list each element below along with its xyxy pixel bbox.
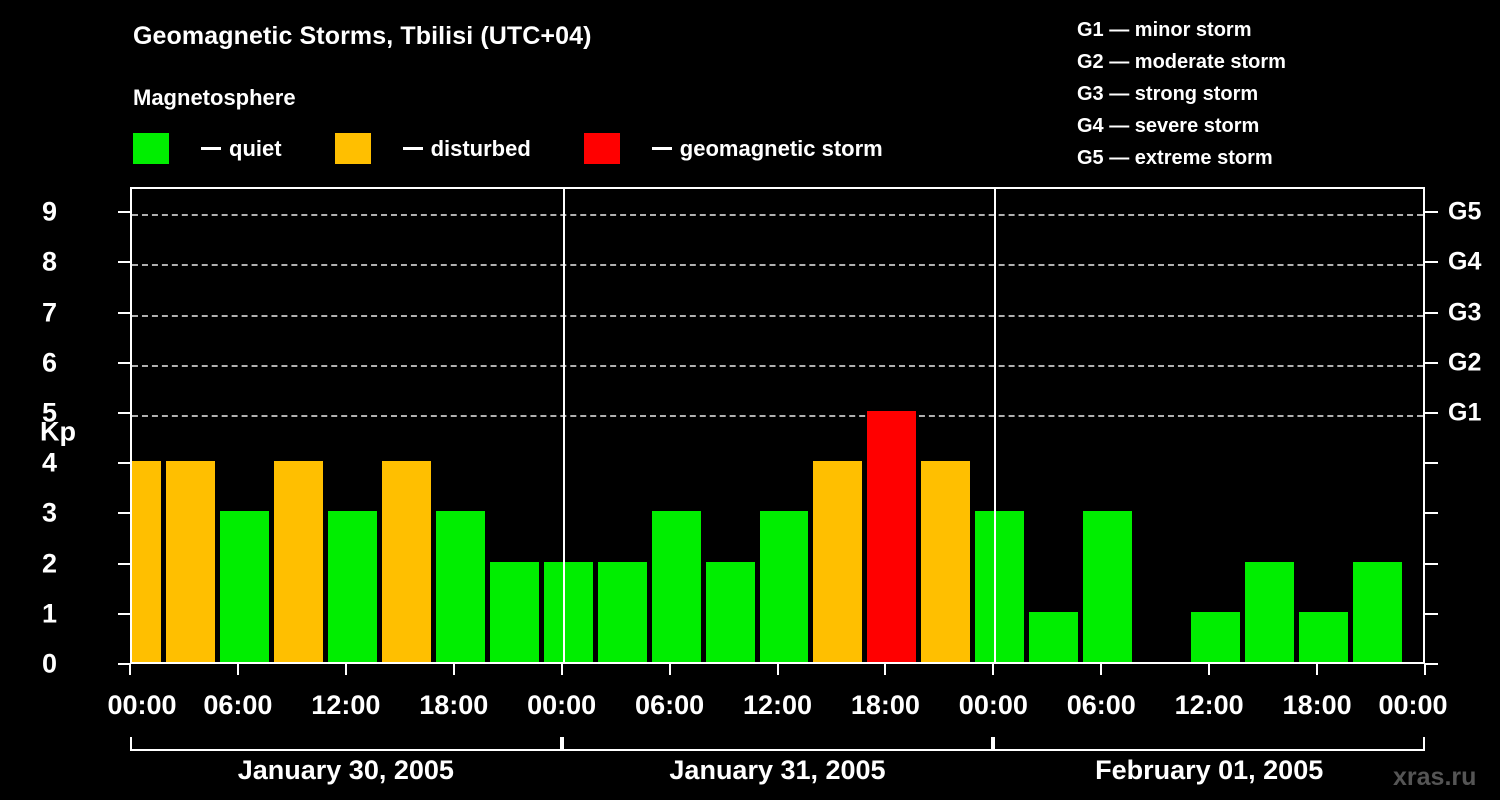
y-tick-mark-7 [118, 312, 130, 314]
x-tick-mark-0 [129, 664, 131, 675]
page-title: Geomagnetic Storms, Tbilisi (UTC+04) [133, 22, 592, 51]
x-tick-mark-3 [453, 664, 455, 675]
right-tick-mark-5 [1425, 412, 1438, 414]
y-tick-label-9: 9 [27, 197, 57, 228]
x-tick-mark-8 [992, 664, 994, 675]
day-separator-1 [563, 189, 565, 662]
x-tick-label-11: 18:00 [1283, 690, 1352, 721]
day-label-3: February 01, 2005 [1095, 755, 1323, 786]
day-label-1: January 30, 2005 [238, 755, 454, 786]
g-tick-label-G5: G5 [1448, 198, 1481, 227]
y-tick-label-2: 2 [27, 548, 57, 579]
x-tick-label-3: 18:00 [419, 690, 488, 721]
y-tick-label-6: 6 [27, 347, 57, 378]
x-tick-mark-6 [777, 664, 779, 675]
x-tick-mark-10 [1208, 664, 1210, 675]
y-tick-label-7: 7 [27, 297, 57, 328]
legend-dash-icon [652, 147, 672, 150]
x-tick-label-8: 00:00 [959, 690, 1028, 721]
x-tick-mark-12 [1424, 664, 1426, 675]
y-tick-label-1: 1 [27, 598, 57, 629]
right-tick-mark-7 [1425, 312, 1438, 314]
chart-subtitle: Magnetosphere [133, 85, 296, 111]
y-tick-label-0: 0 [27, 649, 57, 680]
legend-label: disturbed [431, 136, 531, 162]
orange-square-icon [335, 133, 371, 164]
day-bracket-2 [562, 737, 994, 751]
g-scale-legend: G1 — minor stormG2 — moderate stormG3 — … [1077, 14, 1286, 174]
legend-label: geomagnetic storm [680, 136, 883, 162]
y-tick-label-3: 3 [27, 498, 57, 529]
g-legend-row-5: G5 — extreme storm [1077, 142, 1286, 174]
x-tick-label-5: 06:00 [635, 690, 704, 721]
x-tick-label-4: 00:00 [527, 690, 596, 721]
y-tick-mark-3 [118, 512, 130, 514]
legend-dash-icon [201, 147, 221, 150]
g-tick-label-G4: G4 [1448, 248, 1481, 277]
g-legend-row-2: G2 — moderate storm [1077, 46, 1286, 78]
right-tick-mark-0 [1425, 663, 1438, 665]
x-tick-mark-2 [345, 664, 347, 675]
x-tick-label-7: 18:00 [851, 690, 920, 721]
x-tick-label-12: 00:00 [1378, 690, 1447, 721]
right-tick-mark-9 [1425, 211, 1438, 213]
day-bracket-3 [993, 737, 1425, 751]
y-tick-mark-8 [118, 261, 130, 263]
g-legend-row-4: G4 — severe storm [1077, 110, 1286, 142]
legend-item-quiet: quiet [133, 133, 282, 164]
right-tick-mark-4 [1425, 462, 1438, 464]
x-tick-label-6: 12:00 [743, 690, 812, 721]
y-tick-label-5: 5 [27, 397, 57, 428]
x-tick-label-1: 06:00 [203, 690, 272, 721]
day-separator-2 [994, 189, 996, 662]
right-tick-mark-1 [1425, 613, 1438, 615]
g-legend-row-1: G1 — minor storm [1077, 14, 1286, 46]
y-tick-mark-4 [118, 462, 130, 464]
day-bracket-1 [130, 737, 562, 751]
y-tick-mark-6 [118, 362, 130, 364]
x-tick-mark-1 [237, 664, 239, 675]
legend-item-geomagnetic-storm: geomagnetic storm [584, 133, 883, 164]
g-tick-label-G1: G1 [1448, 398, 1481, 427]
watermark: xras.ru [1393, 763, 1476, 792]
x-tick-label-10: 12:00 [1175, 690, 1244, 721]
right-tick-mark-3 [1425, 512, 1438, 514]
y-tick-label-8: 8 [27, 247, 57, 278]
right-tick-mark-2 [1425, 563, 1438, 565]
y-tick-label-4: 4 [27, 448, 57, 479]
color-legend: quietdisturbedgeomagnetic storm [133, 133, 883, 164]
g-tick-label-G2: G2 [1448, 348, 1481, 377]
x-tick-label-0: 00:00 [107, 690, 176, 721]
x-tick-label-2: 12:00 [311, 690, 380, 721]
day-label-2: January 31, 2005 [669, 755, 885, 786]
g-tick-label-G3: G3 [1448, 298, 1481, 327]
red-square-icon [584, 133, 620, 164]
x-tick-mark-5 [669, 664, 671, 675]
right-tick-mark-6 [1425, 362, 1438, 364]
x-tick-mark-4 [561, 664, 563, 675]
green-square-icon [133, 133, 169, 164]
day-separators [132, 189, 1423, 662]
y-tick-mark-2 [118, 563, 130, 565]
right-tick-mark-8 [1425, 261, 1438, 263]
y-tick-mark-1 [118, 613, 130, 615]
y-tick-mark-9 [118, 211, 130, 213]
legend-item-disturbed: disturbed [335, 133, 531, 164]
x-tick-mark-7 [884, 664, 886, 675]
y-tick-mark-5 [118, 412, 130, 414]
x-tick-mark-9 [1100, 664, 1102, 675]
legend-dash-icon [403, 147, 423, 150]
legend-label: quiet [229, 136, 282, 162]
x-tick-mark-11 [1316, 664, 1318, 675]
plot-area [130, 187, 1425, 664]
g-legend-row-3: G3 — strong storm [1077, 78, 1286, 110]
x-tick-label-9: 06:00 [1067, 690, 1136, 721]
